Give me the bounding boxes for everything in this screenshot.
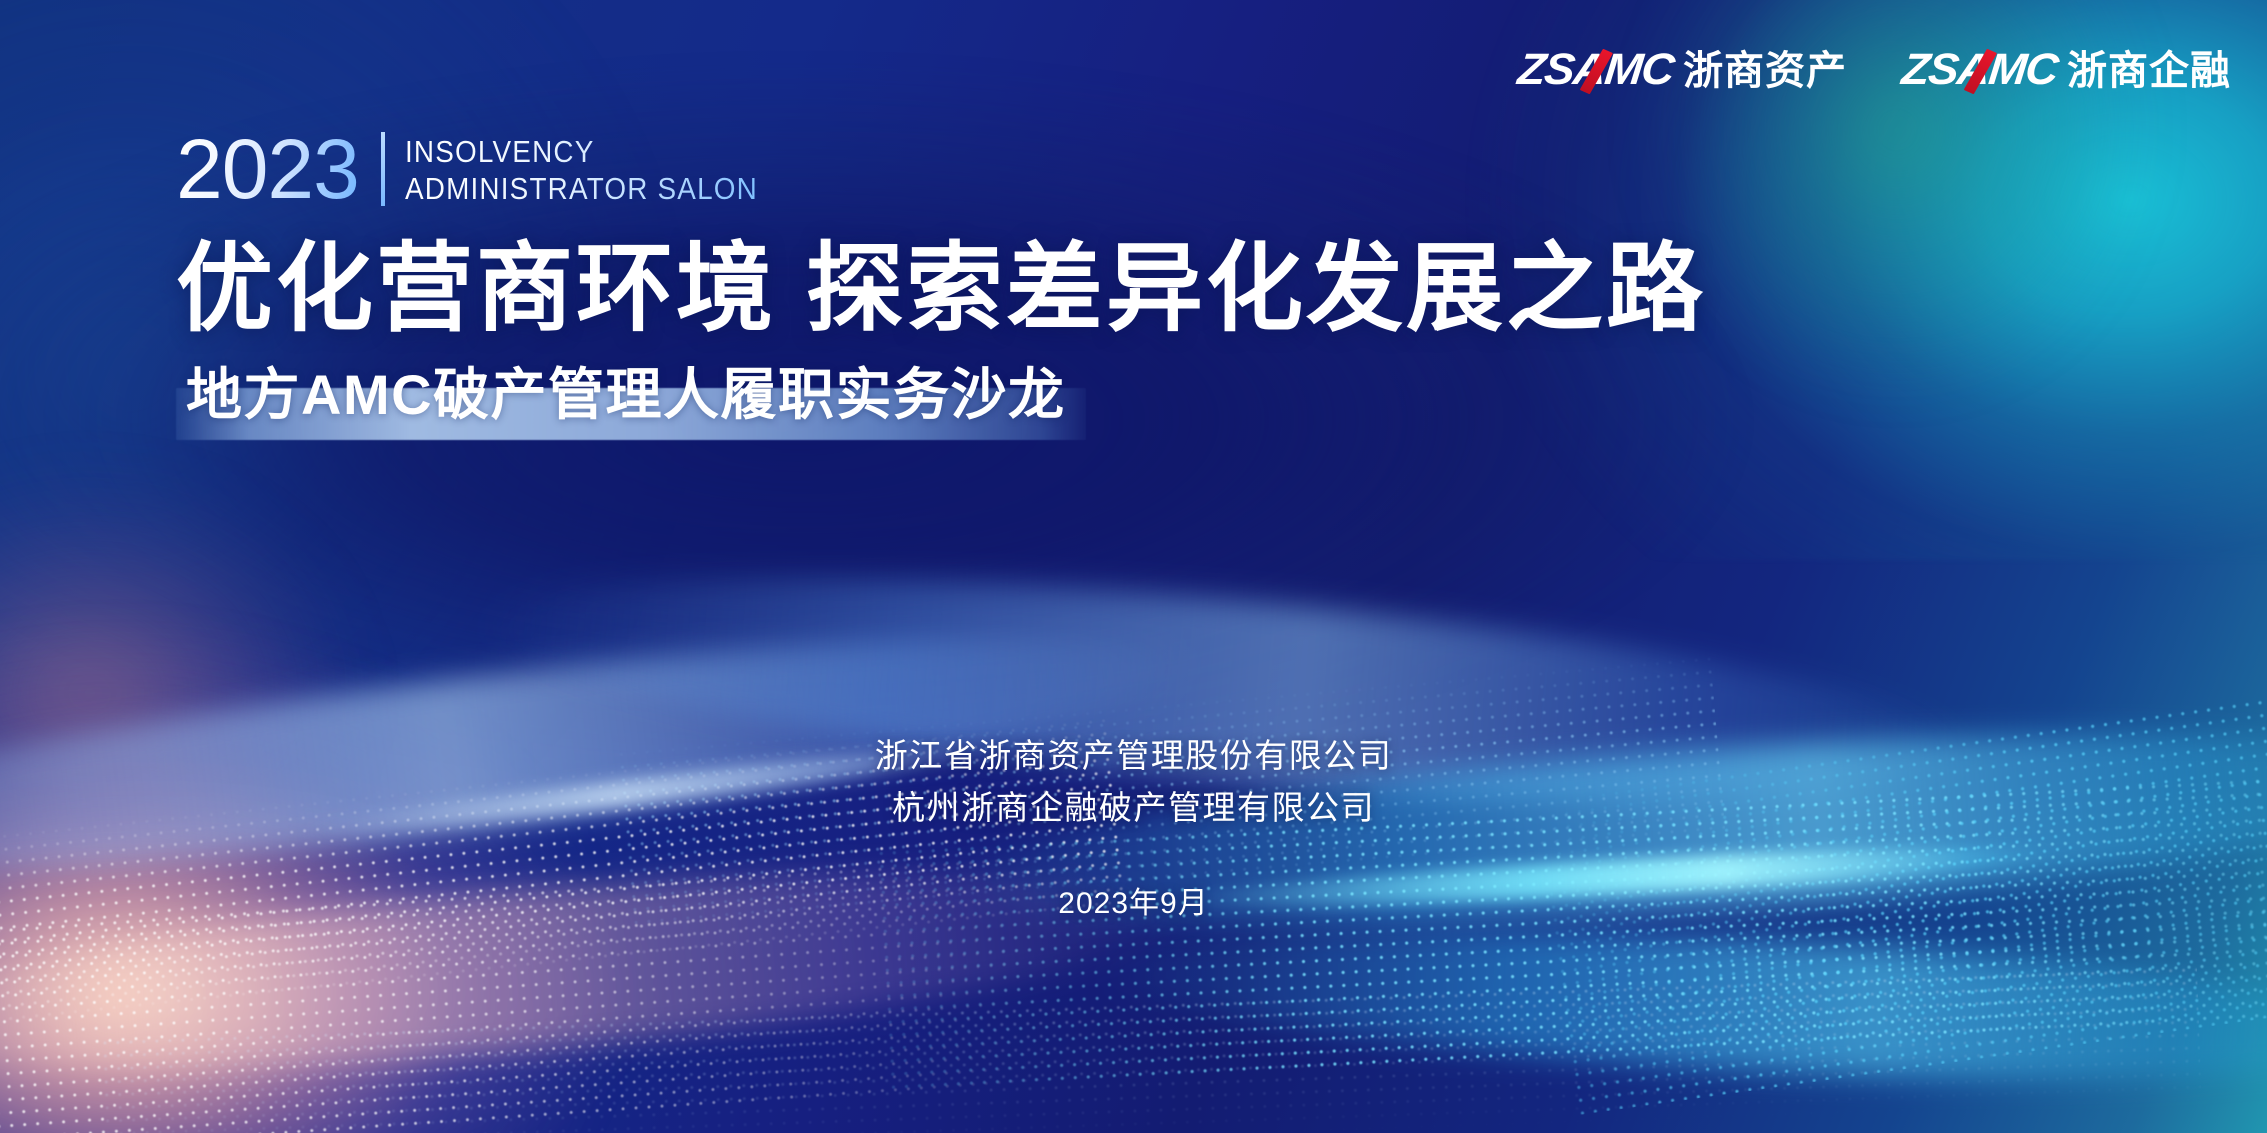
year-and-english-row: 2023 INSOLVENCY ADMINISTRATOR SALON — [176, 130, 1706, 208]
event-year: 2023 — [176, 130, 359, 208]
zsamc-qirong-logo: ZSAMC 浙商企融 — [1905, 34, 2231, 92]
english-title: INSOLVENCY ADMINISTRATOR SALON — [405, 130, 797, 208]
page-title: 优化营商环境 探索差异化发展之路 — [176, 234, 1706, 344]
zsamc-wordmark: ZSAMC — [1516, 48, 1676, 92]
english-title-line-1: INSOLVENCY — [405, 135, 758, 168]
zsamc-asset-logo: ZSAMC 浙商资产 — [1521, 34, 1847, 92]
title-block: 2023 INSOLVENCY ADMINISTRATOR SALON 优化营商… — [176, 130, 1706, 440]
footer-block: 浙江省浙商资产管理股份有限公司 杭州浙商企融破产管理有限公司 2023年9月 — [0, 730, 2267, 922]
event-banner: ZSAMC 浙商资产 ZSAMC 浙商企融 2023 INSOLVENCY AD… — [0, 0, 2267, 1133]
vertical-divider — [381, 132, 385, 206]
event-date: 2023年9月 — [0, 878, 2267, 922]
zsamc-asset-cn-name: 浙商资产 — [1683, 51, 1847, 92]
english-title-line-2: ADMINISTRATOR SALON — [405, 172, 758, 205]
zsamc-wordmark: ZSAMC — [1900, 48, 2060, 92]
logo-row: ZSAMC 浙商资产 ZSAMC 浙商企融 — [1521, 34, 2231, 92]
organizer-name-1: 浙江省浙商资产管理股份有限公司 — [0, 730, 2267, 782]
organizer-name-2: 杭州浙商企融破产管理有限公司 — [0, 782, 2267, 834]
zsamc-qirong-cn-name: 浙商企融 — [2067, 51, 2231, 92]
page-subtitle: 地方AMC破产管理人履职实务沙龙 — [186, 364, 1066, 427]
subtitle-wrapper: 地方AMC破产管理人履职实务沙龙 — [176, 360, 1082, 441]
